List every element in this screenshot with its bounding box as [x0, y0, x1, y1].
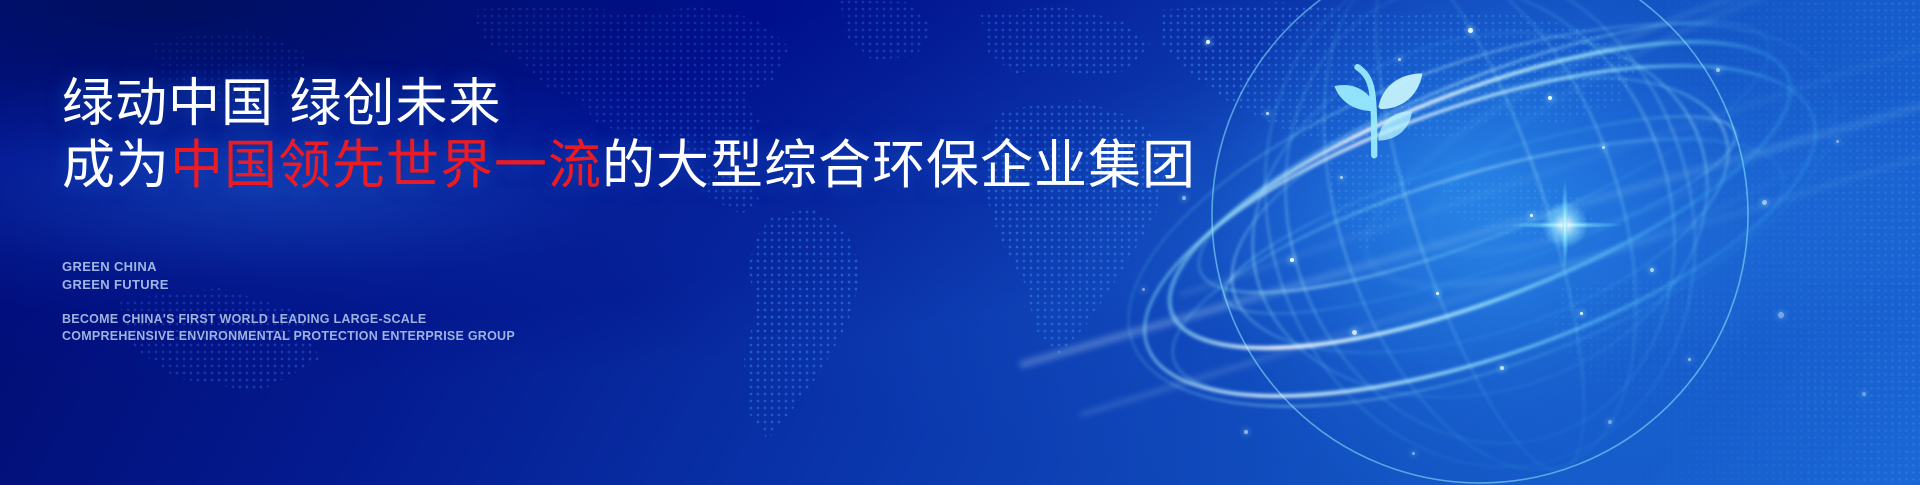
subline-line-1: BECOME CHINA'S FIRST WORLD LEADING LARGE… [62, 311, 515, 328]
sprout-leaf-icon [1334, 67, 1422, 155]
headline-line-2-highlight: 中国领先世界一流 [170, 136, 602, 195]
headline-line-2-suffix: 的大型综合环保企业集团 [602, 136, 1196, 195]
light-burst-core [1542, 202, 1588, 248]
sparkle-particles [0, 0, 1920, 485]
subline-line-2: COMPREHENSIVE ENVIRONMENTAL PROTECTION E… [62, 328, 515, 345]
tagline-line-2: GREEN FUTURE [62, 276, 169, 294]
light-burst [1505, 165, 1625, 285]
globe-halo [1180, 0, 1800, 485]
hero-banner: 绿动中国 绿创未来 成为中国领先世界一流的大型综合环保企业集团 GREEN CH… [0, 0, 1920, 485]
page-title: 绿动中国 绿创未来 成为中国领先世界一流的大型综合环保企业集团 [62, 74, 1196, 198]
headline-line-2-prefix: 成为 [62, 136, 170, 195]
wireframe-globe [1060, 0, 1920, 485]
tagline-line-1: GREEN CHINA [62, 258, 169, 276]
tagline: GREEN CHINA GREEN FUTURE [62, 258, 169, 295]
dotted-world-map [0, 0, 1920, 485]
headline-line-2: 成为中国领先世界一流的大型综合环保企业集团 [62, 135, 1196, 198]
headline-line-1: 绿动中国 绿创未来 [62, 74, 1196, 135]
halftone-dot-texture [1490, 0, 1920, 485]
subline: BECOME CHINA'S FIRST WORLD LEADING LARGE… [62, 311, 515, 346]
